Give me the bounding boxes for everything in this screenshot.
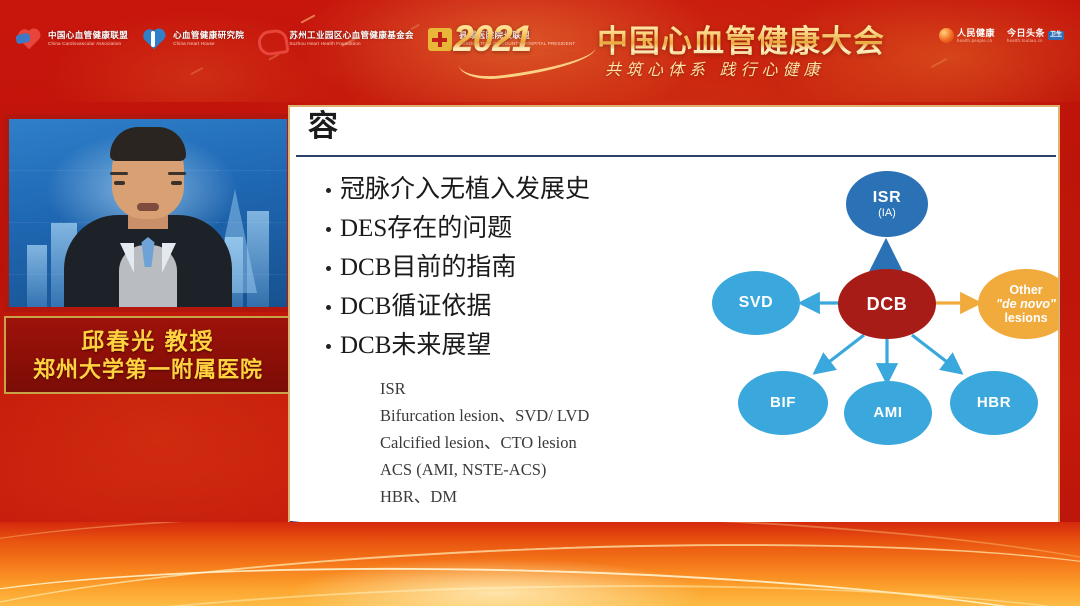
bullet-label: 冠脉介入无植入发展史: [340, 175, 590, 205]
sponsor-logo-foundation: 苏州工业园区心血管健康基金会 Suzhou Heart Health Found…: [255, 22, 414, 56]
media-badge: 卫生: [1048, 31, 1064, 40]
presentation-slide: 容 冠脉介入无植入发展史 DES存在的问题 DCB目前的指南 DCB循证依据 D…: [288, 105, 1060, 557]
sponsor-name-cn: 中国心血管健康联盟: [48, 31, 128, 40]
spark-particle: [931, 58, 948, 68]
media-logo-health-news: 今日头条 health.toutiao.cn 卫生: [1007, 28, 1064, 43]
node-label: DCB: [867, 295, 908, 313]
bullet-dot-icon: [326, 344, 331, 349]
conference-year: 2021: [453, 18, 531, 60]
conference-title-block: 2021 中国心血管健康大会 共筑心体系 践行心健康: [453, 10, 873, 90]
node-label-line: lesions: [1004, 311, 1047, 325]
sponsor-name-en: China Heart House: [173, 41, 244, 46]
sub-item: HBR、DM: [380, 483, 710, 510]
node-label-line: Other: [1009, 283, 1042, 297]
presenter-nameplate: 邱春光 教授 郑州大学第一附属医院: [4, 316, 292, 394]
diagram-node-bif: BIF: [738, 371, 828, 435]
node-label: BIF: [770, 394, 796, 412]
bullet-item: DCB循证依据: [326, 292, 666, 322]
sponsor-name-cn: 心血管健康研究院: [173, 31, 244, 40]
bullet-dot-icon: [326, 188, 331, 193]
sponsor-logo-cca: 中国心血管健康联盟 China Cardiovascular Associati…: [14, 22, 128, 56]
conference-banner: 中国心血管健康联盟 China Cardiovascular Associati…: [0, 0, 1080, 102]
node-label: AMI: [873, 404, 902, 422]
node-label-line: "de novo": [996, 297, 1056, 311]
diagram-node-hbr: HBR: [950, 371, 1038, 435]
sub-item: ACS (AMI, NSTE-ACS): [380, 456, 710, 483]
sub-item: Calcified lesion、CTO lesion: [380, 429, 710, 456]
media-logo-people-health: 人民健康 health.people.cn: [939, 28, 995, 43]
dcb-indication-diagram: ISR (IA) SVD DCB Other "de novo" lesions…: [686, 159, 1060, 511]
hospital-cross-icon: [425, 26, 455, 52]
stage-footer-band: [0, 522, 1080, 606]
diagram-node-ami: AMI: [844, 381, 932, 445]
sponsor-name-cn: 苏州工业园区心血管健康基金会: [289, 31, 414, 40]
people-health-globe-icon: [939, 28, 954, 43]
bullet-item: DCB未来展望: [326, 331, 666, 361]
heart-research-icon: [139, 26, 169, 52]
spark-particle: [190, 67, 203, 75]
title-divider: [296, 155, 1056, 157]
bullet-label: DES存在的问题: [340, 214, 512, 244]
presenter-affiliation: 郑州大学第一附属医院: [33, 357, 263, 382]
slide-bullet-list: 冠脉介入无植入发展史 DES存在的问题 DCB目前的指南 DCB循证依据 DCB…: [326, 175, 666, 370]
sub-item: Bifurcation lesion、SVD/ LVD: [380, 402, 710, 429]
node-label: ISR: [873, 189, 901, 207]
node-label: HBR: [977, 394, 1011, 412]
bullet-label: DCB未来展望: [340, 331, 491, 361]
media-name-cn: 今日头条: [1007, 28, 1045, 38]
bullet-label: DCB目前的指南: [340, 253, 516, 283]
bullet-item: 冠脉介入无植入发展史: [326, 175, 666, 205]
node-label: SVD: [739, 294, 774, 312]
diagram-node-svd: SVD: [712, 271, 800, 335]
conference-subtitle: 共筑心体系 践行心健康: [605, 56, 824, 80]
sponsor-name-en: China Cardiovascular Association: [48, 41, 128, 46]
diagram-node-isr: ISR (IA): [846, 171, 928, 237]
node-sublabel: (IA): [878, 207, 896, 220]
footer-glow: [287, 558, 707, 606]
presenter-name: 邱春光 教授: [81, 328, 214, 354]
media-name-cn: 人民健康: [957, 28, 995, 38]
heart-handshake-icon: [14, 26, 44, 52]
presenter-figure: [64, 169, 232, 307]
media-name-en: health.people.cn: [957, 38, 995, 43]
broadcast-stage: 中国心血管健康联盟 China Cardiovascular Associati…: [0, 0, 1080, 606]
sponsor-name-en: Suzhou Heart Health Foundation: [289, 41, 414, 46]
media-logo-group: 人民健康 health.people.cn 今日头条 health.toutia…: [939, 28, 1064, 43]
sub-item: ISR: [380, 375, 710, 402]
sponsor-logo-heart-house: 心血管健康研究院 China Heart House: [139, 22, 244, 56]
diagram-node-dcb: DCB: [838, 269, 936, 339]
bullet-label: DCB循证依据: [340, 292, 491, 322]
bullet-dot-icon: [326, 305, 331, 310]
heart-ribbon-icon: [255, 26, 285, 52]
bullet-dot-icon: [326, 266, 331, 271]
bullet-dot-icon: [326, 227, 331, 232]
bullet-item: DES存在的问题: [326, 214, 666, 244]
slide-title: 容: [308, 105, 338, 145]
slide-sub-list: ISR Bifurcation lesion、SVD/ LVD Calcifie…: [380, 375, 710, 510]
conference-title: 中国心血管健康大会: [597, 16, 885, 61]
presenter-video-feed[interactable]: [4, 114, 292, 312]
bullet-item: DCB目前的指南: [326, 253, 666, 283]
background-building: [27, 245, 47, 307]
media-name-en: health.toutiao.cn: [1007, 38, 1045, 43]
